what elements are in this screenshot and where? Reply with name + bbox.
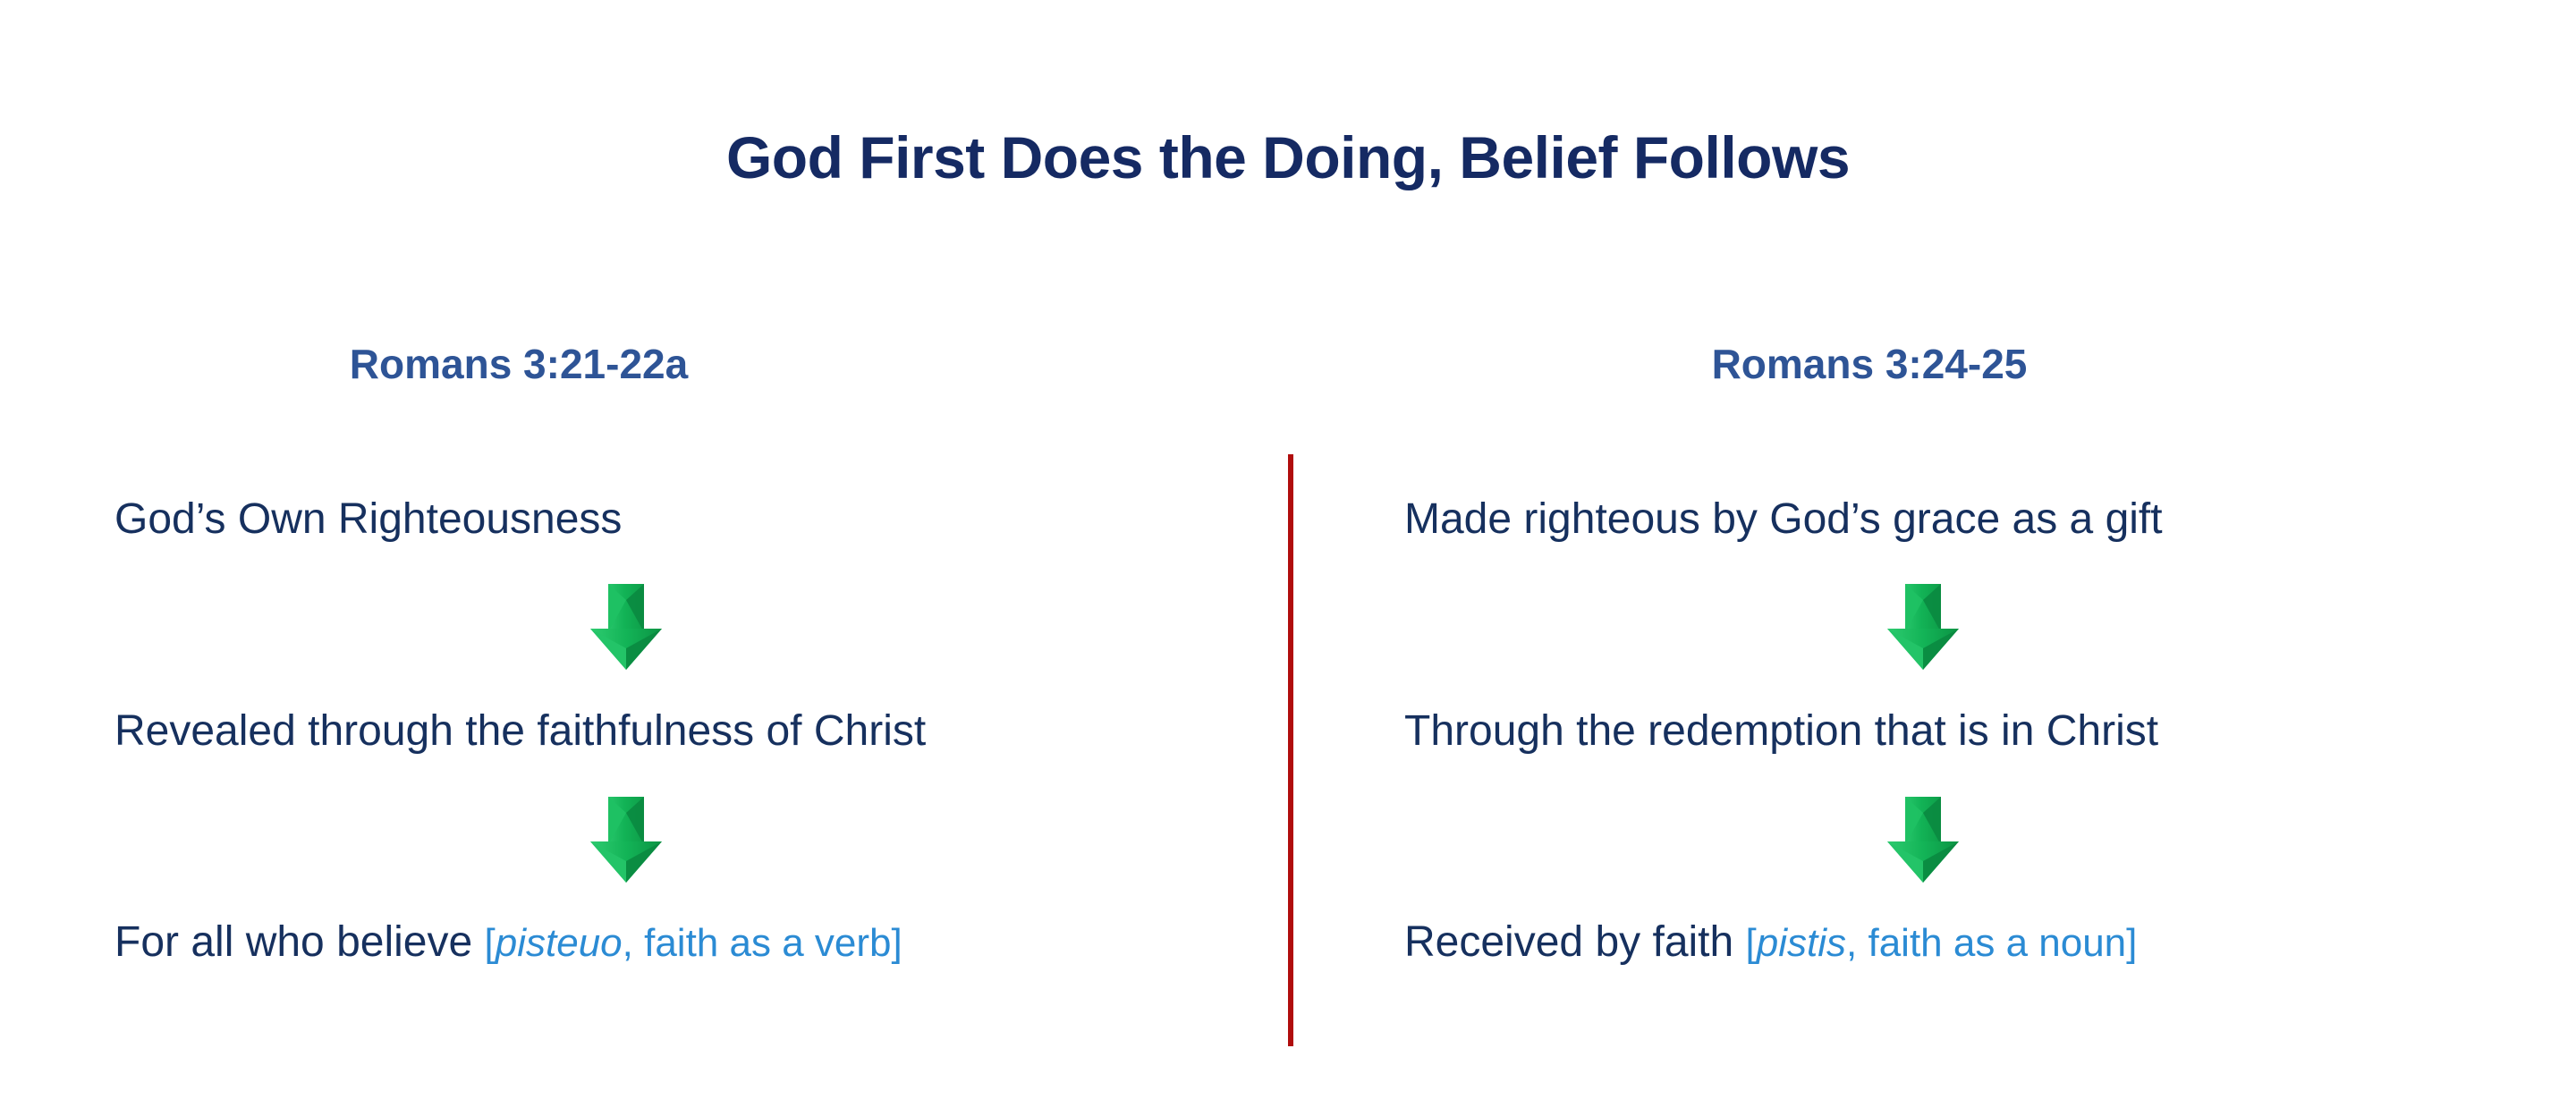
gloss-rest: , faith as a verb bbox=[623, 921, 892, 965]
gloss-term: pistis bbox=[1757, 921, 1846, 965]
step-label: Revealed through the faithfulness of Chr… bbox=[114, 707, 926, 755]
step-text-right-1: Made righteous by God’s grace as a gift bbox=[1404, 496, 2163, 544]
down-arrow-icon bbox=[583, 794, 669, 887]
step-text-left-2: Revealed through the faithfulness of Chr… bbox=[114, 708, 926, 756]
step-label: Through the redemption that is in Christ bbox=[1404, 707, 2158, 755]
gloss-close-bracket: ] bbox=[891, 921, 902, 965]
step-text-right-2: Through the redemption that is in Christ bbox=[1404, 708, 2158, 756]
step-label: For all who believe bbox=[114, 918, 485, 966]
step-label: God’s Own Righteousness bbox=[114, 495, 622, 543]
step-label: Made righteous by God’s grace as a gift bbox=[1404, 495, 2163, 543]
column-right: Romans 3:24-25 Made righteous by God’s g… bbox=[1288, 0, 2576, 1116]
down-arrow-icon bbox=[583, 581, 669, 674]
down-arrow-icon bbox=[1880, 794, 1966, 887]
gloss-left: [pisteuo, faith as a verb] bbox=[485, 921, 902, 965]
gloss-open-bracket: [ bbox=[1746, 921, 1757, 965]
gloss-open-bracket: [ bbox=[485, 921, 496, 965]
column-heading-left: Romans 3:21-22a bbox=[0, 340, 1038, 388]
step-label: Received by faith bbox=[1404, 918, 1746, 966]
gloss-right: [pistis, faith as a noun] bbox=[1746, 921, 2138, 965]
gloss-rest: , faith as a noun bbox=[1846, 921, 2126, 965]
column-heading-right: Romans 3:24-25 bbox=[1288, 340, 2451, 388]
step-text-left-3: For all who believe [pisteuo, faith as a… bbox=[114, 919, 902, 967]
step-text-left-1: God’s Own Righteousness bbox=[114, 496, 622, 544]
gloss-term: pisteuo bbox=[496, 921, 623, 965]
step-text-right-3: Received by faith [pistis, faith as a no… bbox=[1404, 919, 2137, 967]
slide-canvas: God First Does the Doing, Belief Follows… bbox=[0, 0, 2576, 1116]
gloss-close-bracket: ] bbox=[2126, 921, 2137, 965]
down-arrow-icon bbox=[1880, 581, 1966, 674]
column-left: Romans 3:21-22a God’s Own Righteousness bbox=[0, 0, 1288, 1116]
